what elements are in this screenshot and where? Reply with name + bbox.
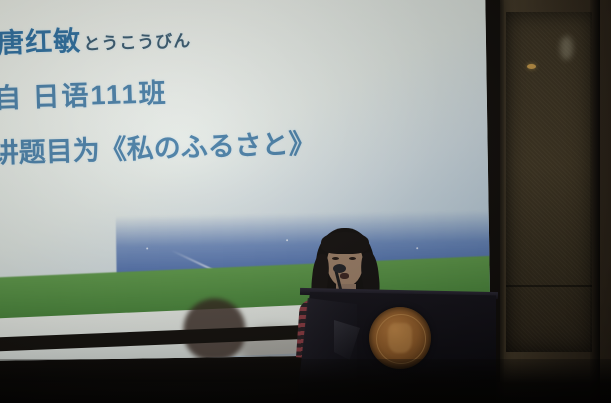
eye-left [332, 257, 339, 260]
door-panel-line [506, 285, 592, 287]
microphone-icon [333, 264, 346, 273]
door-knob [527, 64, 536, 69]
star-dot [146, 247, 148, 249]
foreground-shadow [0, 359, 611, 403]
slide-line-class: 来自 日语111班 [0, 62, 449, 116]
contestant-name-furigana: とうこうびん [83, 26, 192, 54]
contestant-name: 唐红敏 [0, 19, 82, 61]
mouth [340, 273, 349, 279]
projection-scene: 剩余时间 00:00:49 ★ 唐红敏 とうこうびん 来自 日语111班 演讲题… [0, 0, 611, 403]
star-dot [286, 239, 288, 241]
emblem-center-mark [388, 323, 412, 353]
slide-text-block: ★ 唐红敏 とうこうびん 来自 日语111班 演讲题目为《私のふるさと》 [0, 7, 451, 171]
star-dot [416, 247, 418, 249]
bangs [321, 232, 369, 254]
eye-right [349, 257, 356, 260]
wall-seam-right [590, 0, 600, 403]
wall-light-reflection [560, 36, 573, 60]
door [506, 12, 592, 352]
